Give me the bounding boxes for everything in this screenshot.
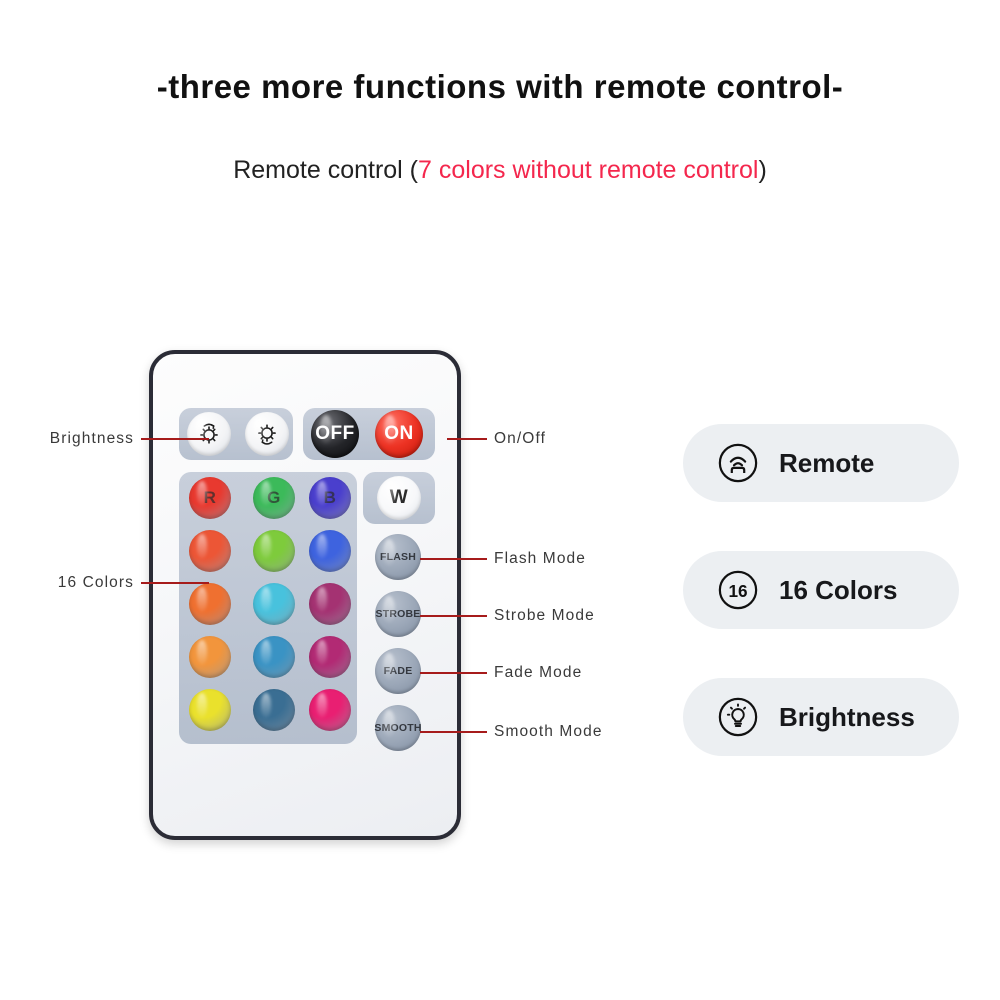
color-pad-b3[interactable] xyxy=(309,583,351,625)
lightbulb-icon xyxy=(717,696,759,738)
color-pad-r4[interactable] xyxy=(189,636,231,678)
brightness-down-button[interactable] xyxy=(245,412,289,456)
brightness-up-button[interactable] xyxy=(187,412,231,456)
callout-smooth-label: Smooth Mode xyxy=(494,723,603,741)
sun-up-icon xyxy=(194,419,224,449)
leader-line-onoff xyxy=(447,438,487,440)
color-pad-b5[interactable] xyxy=(309,689,351,731)
sun-down-icon xyxy=(252,419,282,449)
leader-line-brightness xyxy=(141,438,209,440)
smooth-mode-button[interactable]: SMOOTH xyxy=(375,705,421,751)
color-pad-b[interactable]: B xyxy=(309,477,351,519)
color-pad-g2[interactable] xyxy=(253,530,295,572)
subtitle-suffix: ) xyxy=(758,156,766,184)
callout-16colors-label: 16 Colors xyxy=(14,574,134,592)
strobe-mode-button[interactable]: STROBE xyxy=(375,591,421,637)
flash-mode-button[interactable]: FLASH xyxy=(375,534,421,580)
leader-line-smooth xyxy=(420,731,487,733)
color-pad-r[interactable]: R xyxy=(189,477,231,519)
feature-label-remote: Remote xyxy=(779,448,874,479)
leader-line-16colors xyxy=(141,582,209,584)
color-pad-g[interactable]: G xyxy=(253,477,295,519)
product-feature-graphic: -three more functions with remote contro… xyxy=(0,0,1000,1000)
sixteen-circle-icon: 16 xyxy=(717,569,759,611)
color-pad-r2[interactable] xyxy=(189,530,231,572)
feature-label-16colors: 16 Colors xyxy=(779,575,898,606)
feature-label-brightness: Brightness xyxy=(779,702,915,733)
color-pad-g3[interactable] xyxy=(253,583,295,625)
callout-brightness-label: Brightness xyxy=(14,430,134,448)
color-pad-g5[interactable] xyxy=(253,689,295,731)
remote-control-body: OFF ON R G B W FLASH STROBE FADE SMOOTH xyxy=(149,350,461,840)
leader-line-fade xyxy=(420,672,487,674)
callout-fade-label: Fade Mode xyxy=(494,664,582,682)
color-pad-r5[interactable] xyxy=(189,689,231,731)
page-headline: -three more functions with remote contro… xyxy=(0,68,1000,106)
leader-line-strobe xyxy=(420,615,487,617)
callout-onoff-label: On/Off xyxy=(494,430,546,448)
remote-signal-icon xyxy=(717,442,759,484)
fade-mode-button[interactable]: FADE xyxy=(375,648,421,694)
color-pad-b4[interactable] xyxy=(309,636,351,678)
feature-card-brightness[interactable]: Brightness xyxy=(683,678,959,756)
color-pad-r3[interactable] xyxy=(189,583,231,625)
callout-flash-label: Flash Mode xyxy=(494,550,586,568)
page-subtitle: Remote control (7 colors without remote … xyxy=(0,156,1000,185)
leader-line-flash xyxy=(420,558,487,560)
callout-strobe-label: Strobe Mode xyxy=(494,607,595,625)
subtitle-prefix: Remote control ( xyxy=(233,156,418,184)
white-color-button[interactable]: W xyxy=(377,476,421,520)
power-on-button[interactable]: ON xyxy=(375,410,423,458)
subtitle-accent: 7 colors without remote control xyxy=(418,156,758,184)
feature-card-16colors[interactable]: 16 16 Colors xyxy=(683,551,959,629)
svg-text:16: 16 xyxy=(728,581,747,601)
power-off-button[interactable]: OFF xyxy=(311,410,359,458)
color-pad-g4[interactable] xyxy=(253,636,295,678)
feature-card-remote[interactable]: Remote xyxy=(683,424,959,502)
color-pad-b2[interactable] xyxy=(309,530,351,572)
